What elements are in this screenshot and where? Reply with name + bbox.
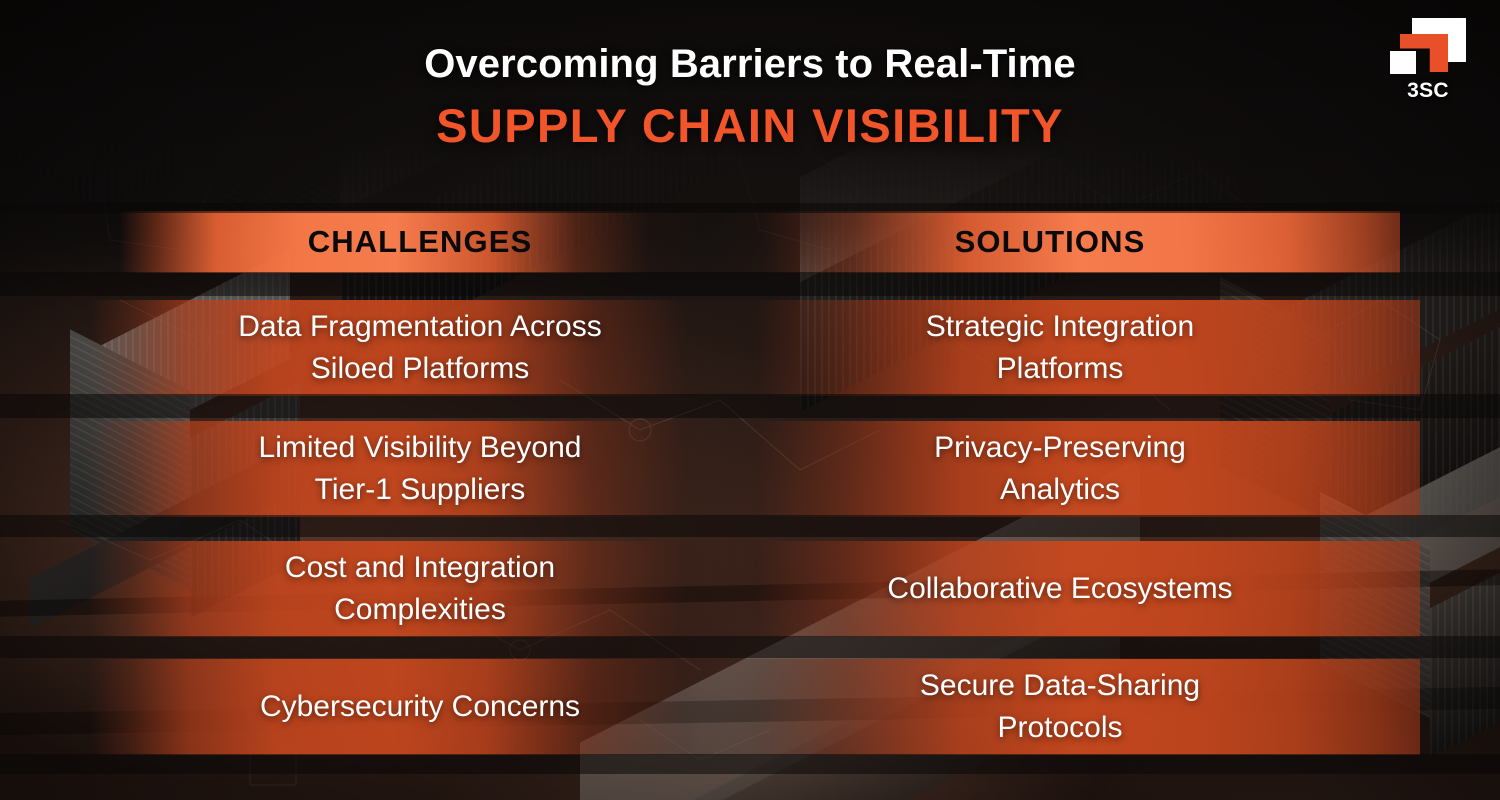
challenge-row-4-label: Cybersecurity Concerns bbox=[240, 686, 600, 728]
logo-white-square-icon bbox=[1390, 51, 1416, 74]
solution-row-2-line-1: Privacy-Preserving bbox=[934, 427, 1186, 469]
solution-row-4-line-2: Protocols bbox=[920, 707, 1200, 749]
challenge-row-4-line-1: Cybersecurity Concerns bbox=[260, 686, 580, 728]
title-line-2: SUPPLY CHAIN VISIBILITY bbox=[0, 96, 1500, 156]
solutions-heading-label: SOLUTIONS bbox=[955, 224, 1146, 260]
challenges-heading-label: CHALLENGES bbox=[308, 224, 533, 260]
challenge-row-2-line-1: Limited Visibility Beyond bbox=[259, 427, 582, 469]
challenge-row-1: Data Fragmentation Across Siloed Platfor… bbox=[90, 300, 750, 396]
row-band-1 bbox=[0, 272, 1500, 296]
infographic-canvas: Overcoming Barriers to Real-Time SUPPLY … bbox=[0, 0, 1500, 800]
challenge-row-1-line-1: Data Fragmentation Across bbox=[238, 306, 602, 348]
brand-logo[interactable]: 3SC bbox=[1380, 18, 1476, 110]
solution-row-2-line-2: Analytics bbox=[934, 469, 1186, 511]
challenge-row-2-label: Limited Visibility Beyond Tier-1 Supplie… bbox=[239, 427, 602, 511]
challenge-row-3-label: Cost and Integration Complexities bbox=[265, 547, 575, 631]
row-band-2 bbox=[0, 394, 1500, 418]
logo-wordmark: 3SC bbox=[1380, 79, 1476, 103]
solution-row-4-label: Secure Data-Sharing Protocols bbox=[900, 665, 1220, 749]
solution-row-1-line-2: Platforms bbox=[926, 348, 1195, 390]
row-band-4 bbox=[0, 636, 1500, 658]
column-header-challenges: CHALLENGES bbox=[120, 211, 720, 273]
row-band-3 bbox=[0, 515, 1500, 537]
challenge-row-3-line-1: Cost and Integration bbox=[285, 547, 555, 589]
challenge-row-1-label: Data Fragmentation Across Siloed Platfor… bbox=[218, 306, 622, 390]
solution-row-3-line-1: Collaborative Ecosystems bbox=[887, 568, 1232, 610]
challenge-row-4: Cybersecurity Concerns bbox=[90, 659, 750, 755]
solution-row-3: Collaborative Ecosystems bbox=[700, 541, 1420, 637]
title-line-1: Overcoming Barriers to Real-Time bbox=[0, 38, 1500, 90]
challenge-row-2: Limited Visibility Beyond Tier-1 Supplie… bbox=[90, 421, 750, 517]
solution-row-2: Privacy-Preserving Analytics bbox=[700, 421, 1420, 517]
challenge-row-3: Cost and Integration Complexities bbox=[90, 541, 750, 637]
solution-row-3-label: Collaborative Ecosystems bbox=[867, 568, 1252, 610]
solution-row-4-line-1: Secure Data-Sharing bbox=[920, 665, 1200, 707]
solution-row-1: Strategic Integration Platforms bbox=[700, 300, 1420, 396]
title-block: Overcoming Barriers to Real-Time SUPPLY … bbox=[0, 38, 1500, 156]
challenge-row-1-line-2: Siloed Platforms bbox=[238, 348, 602, 390]
row-band-5 bbox=[0, 754, 1500, 774]
solution-row-1-line-1: Strategic Integration bbox=[926, 306, 1195, 348]
challenge-row-3-line-2: Complexities bbox=[285, 589, 555, 631]
row-band-0 bbox=[0, 203, 1500, 213]
solution-row-4: Secure Data-Sharing Protocols bbox=[700, 659, 1420, 755]
solution-row-2-label: Privacy-Preserving Analytics bbox=[914, 427, 1206, 511]
column-header-solutions: SOLUTIONS bbox=[700, 211, 1400, 273]
challenge-row-2-line-2: Tier-1 Suppliers bbox=[259, 469, 582, 511]
logo-mark-icon bbox=[1390, 18, 1466, 74]
solution-row-1-label: Strategic Integration Platforms bbox=[906, 306, 1215, 390]
